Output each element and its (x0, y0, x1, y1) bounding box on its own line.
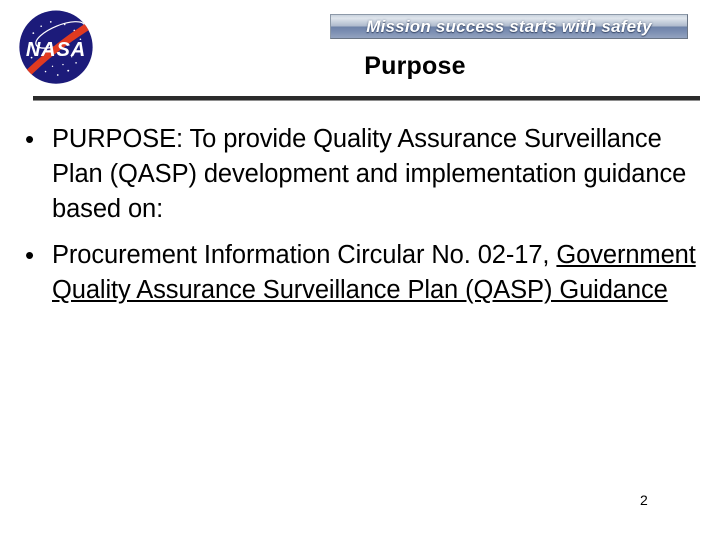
list-item: • PURPOSE: To provide Quality Assurance … (20, 122, 700, 227)
bullet-segment: PURPOSE: To provide Quality Assurance Su… (52, 125, 686, 223)
page-number: 2 (640, 492, 648, 508)
bullet-marker: • (20, 122, 52, 157)
page-title: Purpose (110, 52, 720, 81)
slide-canvas: NASA Mission success starts with safety … (0, 0, 720, 540)
bullet-marker: • (20, 238, 52, 273)
bullet-text: PURPOSE: To provide Quality Assurance Su… (52, 122, 700, 227)
slide-body: • PURPOSE: To provide Quality Assurance … (20, 122, 700, 319)
nasa-logo: NASA (12, 7, 100, 89)
svg-text:NASA: NASA (26, 39, 86, 61)
bullet-segment: Procurement Information Circular No. 02-… (52, 241, 556, 269)
nasa-meatball-icon: NASA (12, 7, 100, 89)
bullet-text: Procurement Information Circular No. 02-… (52, 238, 700, 308)
list-item: • Procurement Information Circular No. 0… (20, 238, 700, 308)
safety-banner: Mission success starts with safety (330, 14, 688, 39)
safety-banner-text: Mission success starts with safety (366, 17, 652, 37)
title-divider (33, 96, 700, 101)
